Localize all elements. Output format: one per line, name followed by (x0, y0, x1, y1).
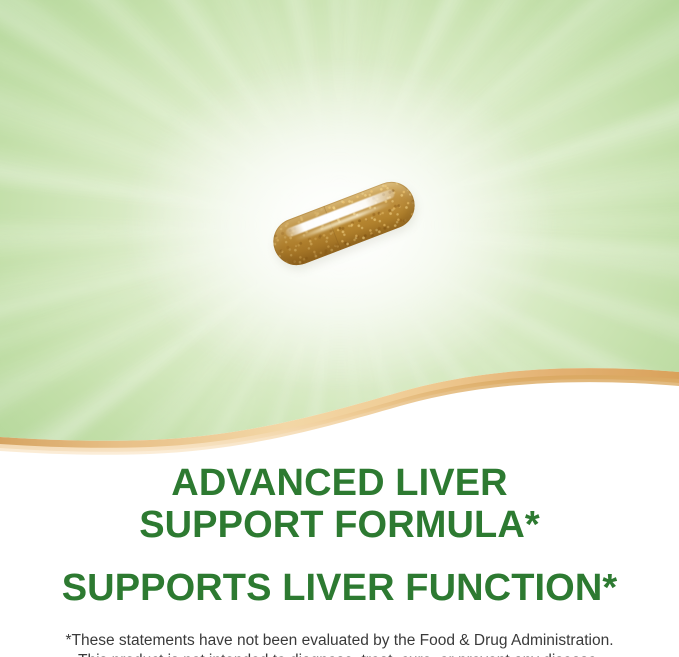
headline-secondary: SUPPORTS LIVER FUNCTION* (20, 567, 660, 609)
capsule-body (266, 175, 421, 272)
headline-primary-line-2: SUPPORT FORMULA* (139, 504, 540, 546)
copy-block: ADVANCED LIVER SUPPORT FORMULA* SUPPORTS… (0, 462, 679, 657)
headline-primary-line-1: ADVANCED LIVER (171, 462, 507, 504)
capsule-rim (266, 175, 421, 272)
product-marketing-image: ADVANCED LIVER SUPPORT FORMULA* SUPPORTS… (0, 0, 679, 657)
headline-primary: ADVANCED LIVER SUPPORT FORMULA* (80, 462, 600, 546)
fda-disclaimer-line-2: This product is not intended to diagnose… (30, 651, 650, 657)
capsule-image (272, 176, 414, 266)
fda-disclaimer-line-1: *These statements have not been evaluate… (30, 631, 650, 651)
fda-disclaimer: *These statements have not been evaluate… (30, 631, 650, 657)
